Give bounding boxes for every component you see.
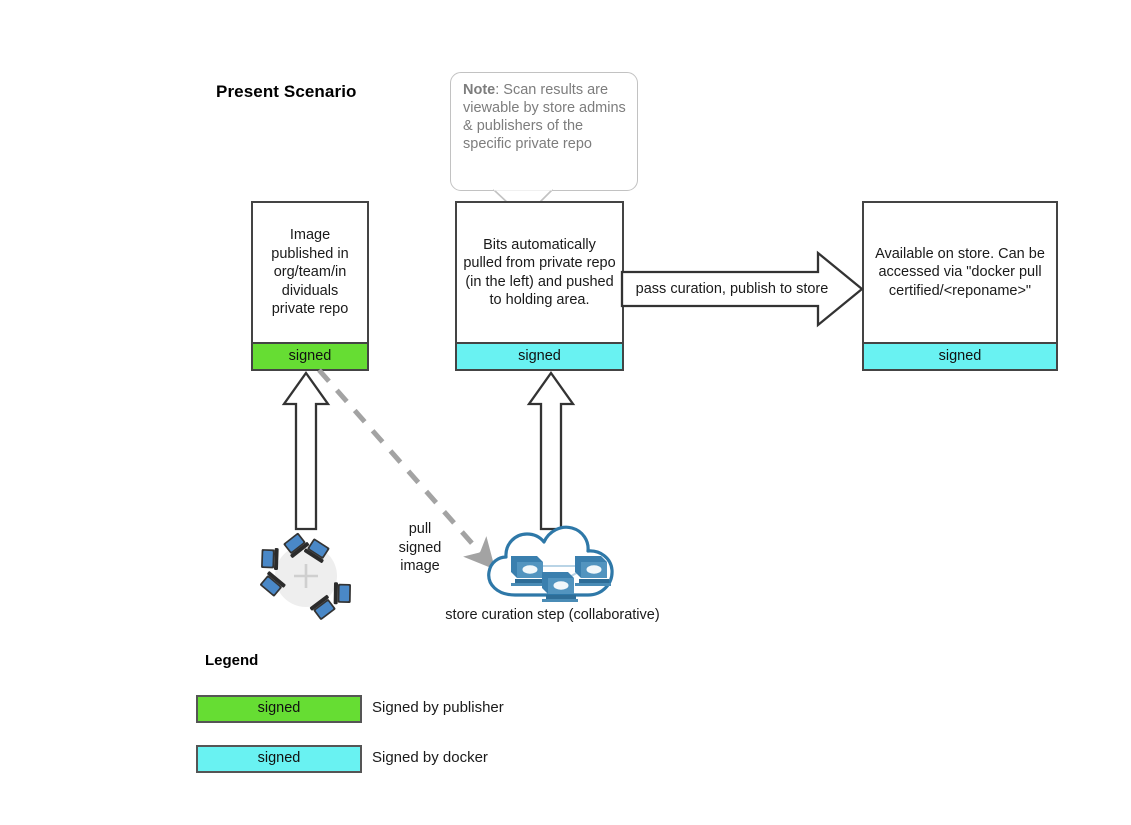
cloud-caption: store curation step (collaborative) — [380, 606, 725, 625]
box-holding-area-body: Bits automatically pulled from private r… — [457, 203, 622, 342]
box-store-available-signed-badge: signed — [864, 342, 1056, 369]
note-label: Note — [463, 82, 495, 98]
legend-item-docker: signed — [196, 745, 362, 773]
legend-label-docker: Signed by docker — [372, 749, 488, 766]
box-holding-area: Bits automatically pulled from private r… — [455, 201, 624, 371]
legend-swatch-docker: signed — [196, 745, 362, 773]
arrow-pass-curation-label: pass curation, publish to store — [622, 280, 842, 299]
legend-title: Legend — [205, 652, 258, 669]
note-callout: Note: Scan results are viewable by store… — [450, 72, 638, 191]
box-store-available: Available on store. Can be accessed via … — [862, 201, 1058, 371]
box-private-repo-body: Image published in org/team/in dividuals… — [253, 203, 367, 342]
arrow-pull-signed-image-label: pull signed image — [385, 520, 455, 576]
network-cloud-icon — [481, 518, 623, 608]
diagram-canvas: Present Scenario Note: Scan results are … — [0, 0, 1131, 825]
box-private-repo: Image published in org/team/in dividuals… — [251, 201, 369, 371]
legend-label-publisher: Signed by publisher — [372, 699, 504, 716]
box-store-available-body: Available on store. Can be accessed via … — [864, 203, 1056, 342]
legend-item-publisher: signed — [196, 695, 362, 723]
collaboration-table-icon — [258, 528, 354, 624]
legend-swatch-publisher: signed — [196, 695, 362, 723]
arrow-push-to-holding — [528, 371, 576, 531]
page-title: Present Scenario — [216, 82, 357, 102]
